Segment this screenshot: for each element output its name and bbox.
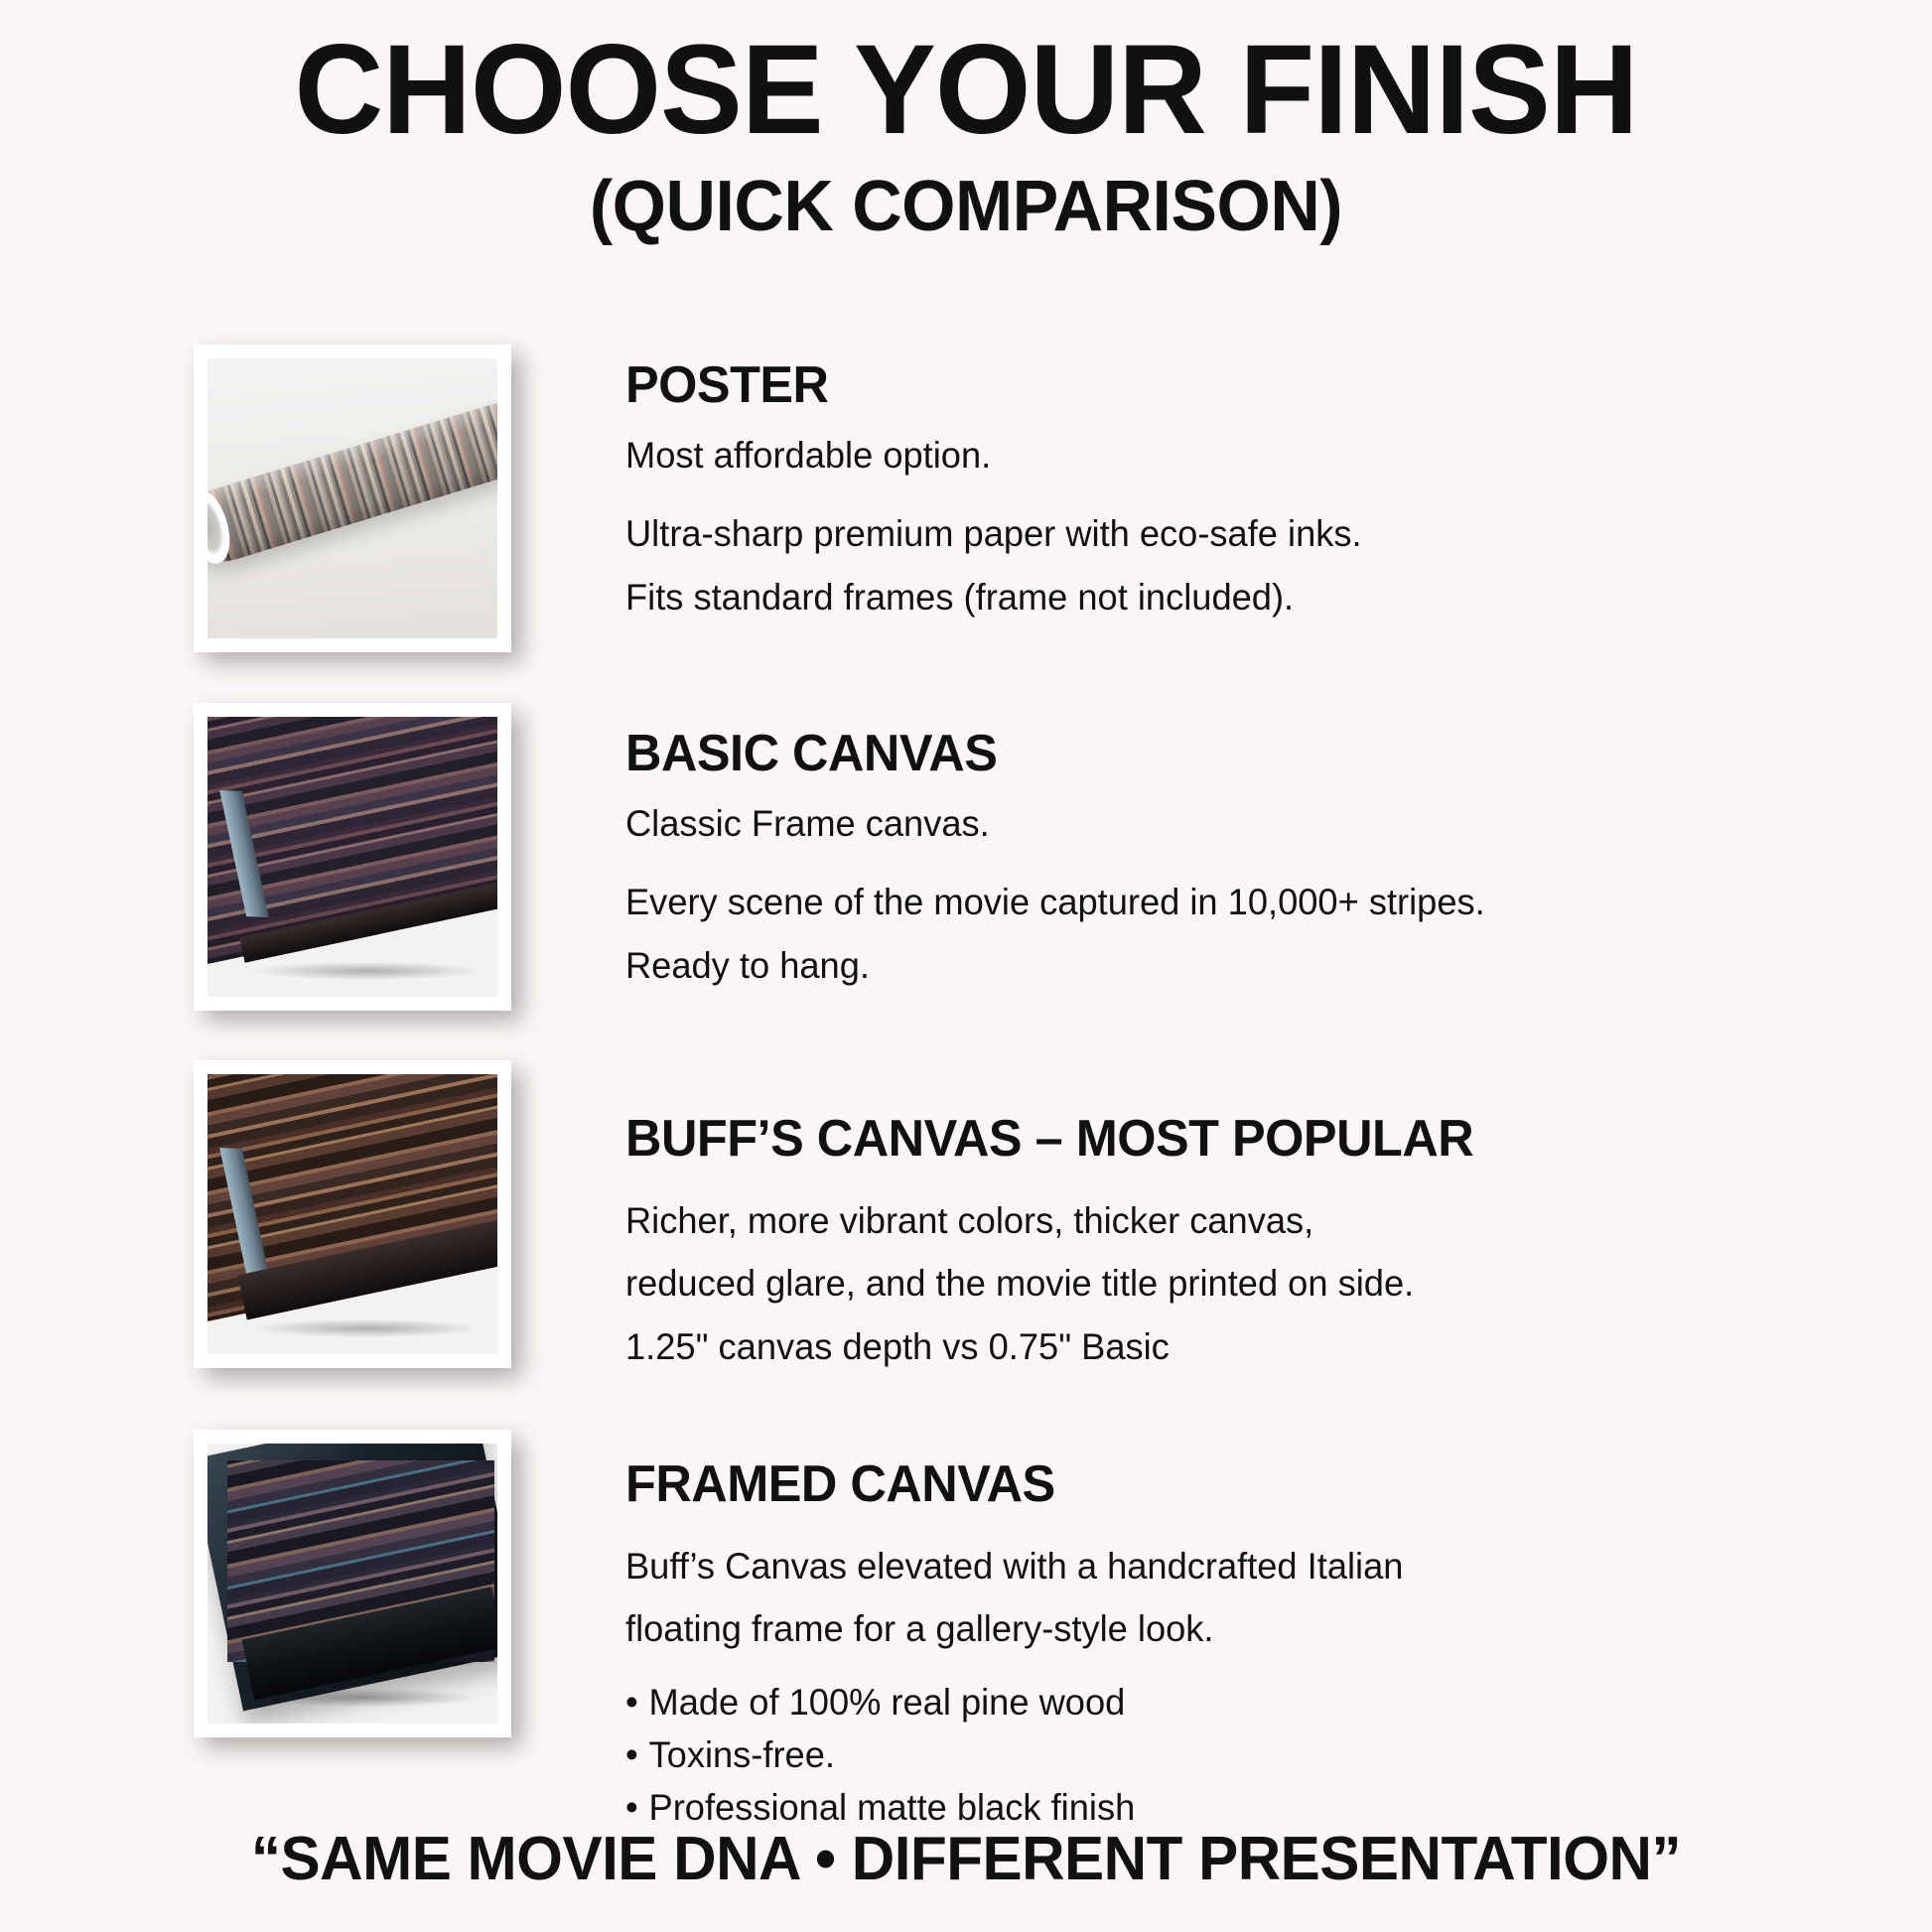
list-item: Made of 100% real pine wood — [625, 1676, 1842, 1728]
basic-canvas-lead: Classic Frame canvas. — [625, 799, 1842, 849]
framed-canvas-image-card[interactable] — [194, 1430, 511, 1737]
buffs-canvas-body-line-1: Richer, more vibrant colors, thicker can… — [625, 1196, 1842, 1246]
rolled-poster-photo — [207, 358, 497, 638]
buffs-canvas-image-card[interactable] — [194, 1060, 511, 1368]
poster-text-block: POSTER Most affordable option. Ultra-sha… — [625, 358, 1866, 621]
framed-canvas-corner-photo — [207, 1444, 497, 1724]
buffs-canvas-body-line-2: reduced glare, and the movie title print… — [625, 1259, 1842, 1309]
framed-canvas-body-line-1: Buff’s Canvas elevated with a handcrafte… — [625, 1542, 1842, 1591]
page-title: CHOOSE YOUR FINISH — [29, 26, 1903, 156]
poster-title: POSTER — [625, 358, 1830, 413]
poster-body-line-2: Fits standard frames (frame not included… — [625, 573, 1842, 622]
list-item: Toxins-free. — [625, 1728, 1842, 1781]
framed-canvas-title: FRAMED CANVAS — [625, 1457, 1830, 1512]
finish-option-poster[interactable]: POSTER Most affordable option. Ultra-sha… — [0, 345, 1932, 652]
basic-canvas-body-line-1: Every scene of the movie captured in 10,… — [625, 878, 1842, 927]
buffs-canvas-body-line-3: 1.25" canvas depth vs 0.75" Basic — [625, 1322, 1842, 1372]
buffs-canvas-title: BUFF’S CANVAS – MOST POPULAR — [625, 1112, 1830, 1167]
basic-canvas-title: BASIC CANVAS — [625, 727, 1830, 781]
buffs-canvas-text-block: BUFF’S CANVAS – MOST POPULAR Richer, mor… — [625, 1112, 1866, 1371]
poster-image-card[interactable] — [194, 345, 511, 652]
poster-body-line-1: Ultra-sharp premium paper with eco-safe … — [625, 509, 1842, 559]
page-header: CHOOSE YOUR FINISH (QUICK COMPARISON) — [0, 0, 1932, 244]
footer-tagline: “SAME MOVIE DNA • DIFFERENT PRESENTATION… — [29, 1824, 1903, 1894]
basic-canvas-body-line-2: Ready to hang. — [625, 941, 1842, 991]
framed-canvas-bullets: Made of 100% real pine wood Toxins-free.… — [625, 1676, 1842, 1835]
basic-canvas-corner-photo — [207, 717, 497, 997]
buffs-canvas-corner-photo — [207, 1074, 497, 1354]
framed-canvas-text-block: FRAMED CANVAS Buff’s Canvas elevated wit… — [625, 1457, 1866, 1835]
finish-option-basic-canvas[interactable]: BASIC CANVAS Classic Frame canvas. Every… — [0, 703, 1932, 1011]
poster-lead: Most affordable option. — [625, 431, 1842, 481]
finish-option-framed-canvas[interactable]: FRAMED CANVAS Buff’s Canvas elevated wit… — [0, 1430, 1932, 1737]
basic-canvas-image-card[interactable] — [194, 703, 511, 1011]
framed-canvas-body-line-2: floating frame for a gallery-style look. — [625, 1604, 1842, 1654]
finish-option-buffs-canvas[interactable]: BUFF’S CANVAS – MOST POPULAR Richer, mor… — [0, 1060, 1932, 1368]
page-subtitle: (QUICK COMPARISON) — [29, 170, 1903, 245]
basic-canvas-text-block: BASIC CANVAS Classic Frame canvas. Every… — [625, 727, 1866, 990]
